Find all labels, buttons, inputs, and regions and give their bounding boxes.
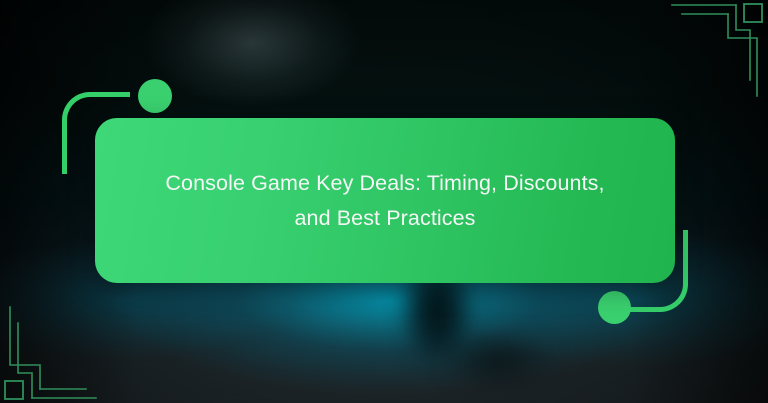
accent-dot-bottom-right [598, 291, 631, 324]
accent-dot-top-left [138, 79, 172, 113]
page-title: Console Game Key Deals: Timing, Discount… [121, 166, 649, 236]
hero-banner: Console Game Key Deals: Timing, Discount… [0, 0, 768, 403]
title-card: Console Game Key Deals: Timing, Discount… [95, 118, 675, 283]
